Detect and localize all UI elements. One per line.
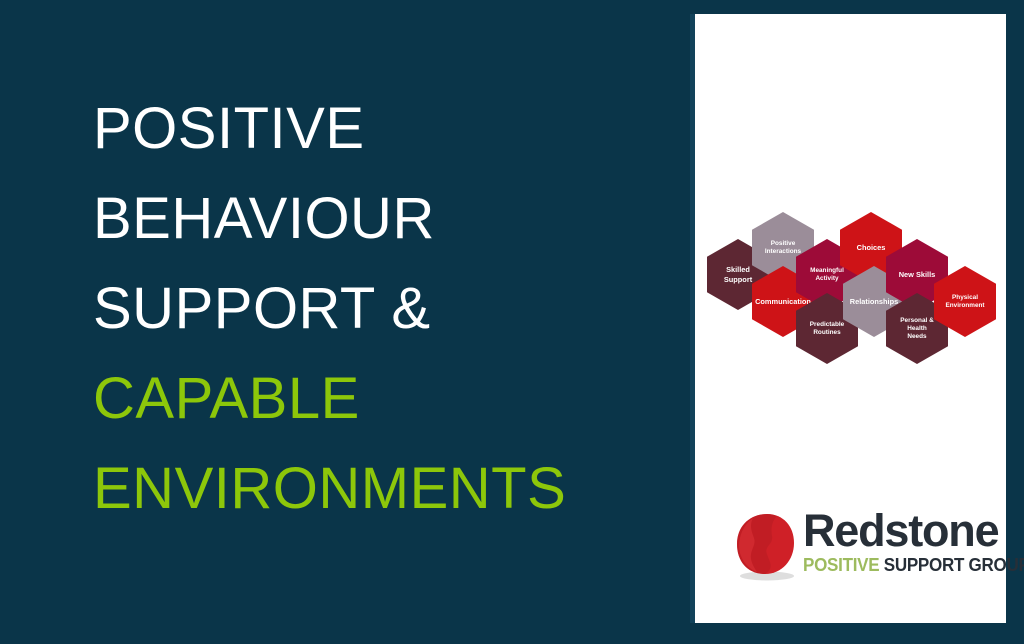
hexagon-label: SkilledSupport [724,265,752,284]
redstone-wordmark: Redstone [803,506,989,555]
hexagon-label: Choices [857,243,886,252]
redstone-logo: Redstone POSITIVE SUPPORT GROUP [731,506,989,588]
title-line-5: ENVIRONMENTS [93,444,673,534]
hexagon-label: New Skills [899,270,936,279]
redstone-logo-text: Redstone POSITIVE SUPPORT GROUP [803,506,989,575]
hexagon-label: PositiveInteractions [765,240,801,256]
title-line-2: BEHAVIOUR [93,174,673,264]
tagline-positive: POSITIVE [803,554,879,575]
slide-title: POSITIVE BEHAVIOUR SUPPORT & CAPABLE ENV… [93,84,673,534]
red-stone-mark-icon [731,510,799,582]
content-card: SkilledSupportPositiveInteractionsCommun… [695,14,1006,623]
hexagon-label: PredictableRoutines [810,321,844,337]
title-line-4: CAPABLE [93,354,673,444]
hexagon-label: Personal &HealthNeeds [900,317,933,341]
tagline-support-group: SUPPORT GROUP [879,554,1024,575]
title-line-1: POSITIVE [93,84,673,174]
hexagon-label: Communication [755,297,811,306]
hexagon-label: PhysicalEnvironment [945,294,984,310]
redstone-tagline: POSITIVE SUPPORT GROUP [803,554,974,575]
hexagon-label: MeaningfulActivity [810,267,844,283]
capable-environments-honeycomb-diagram: SkilledSupportPositiveInteractionsCommun… [695,199,1006,379]
title-line-3: SUPPORT & [93,264,673,354]
hexagon-label: Relationships [850,297,898,306]
